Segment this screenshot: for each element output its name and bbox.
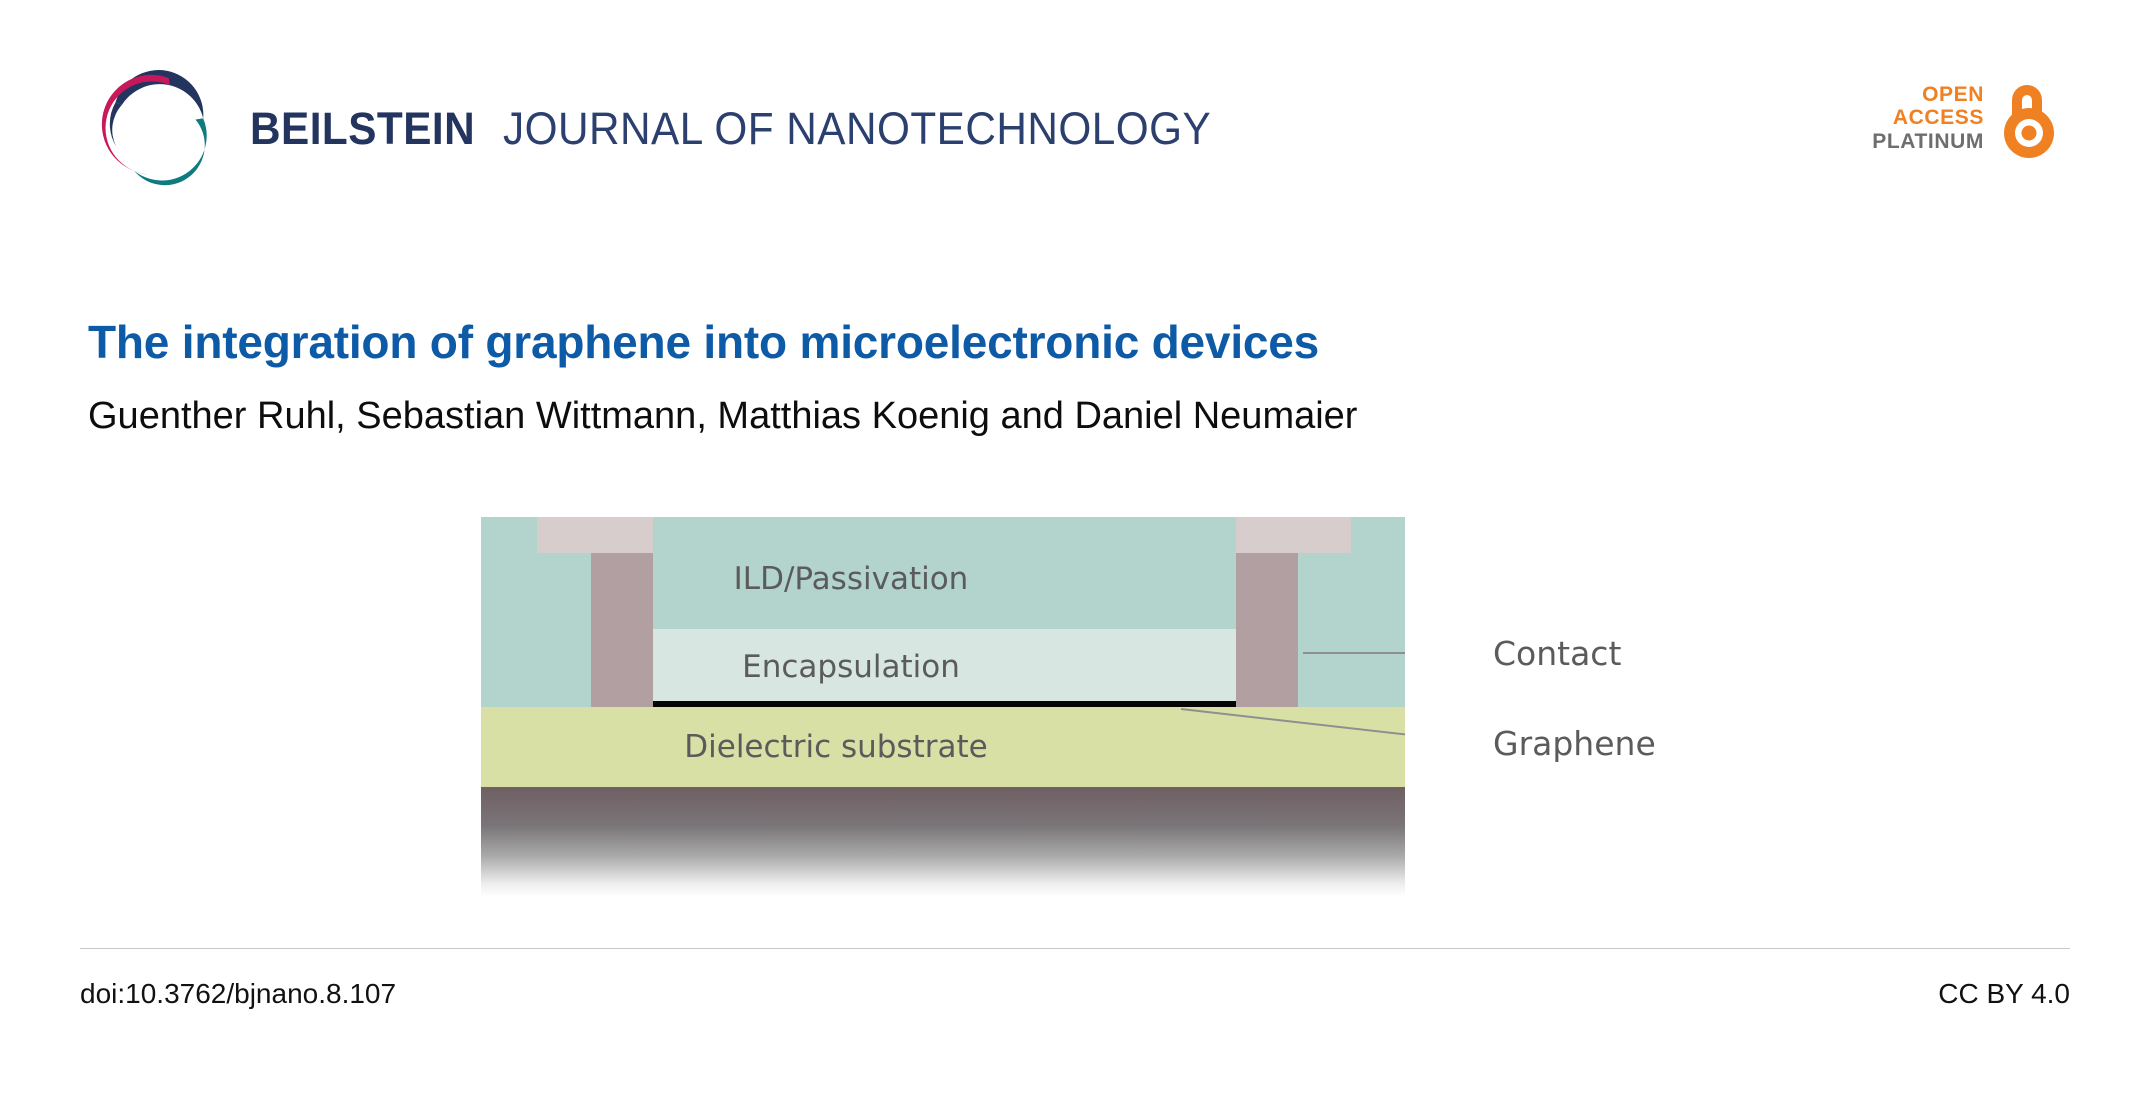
oa-line-open: OPEN [1872,83,1984,107]
footer: doi:10.3762/bjnano.8.107 CC BY 4.0 [80,970,2070,1018]
oa-line-access: ACCESS [1872,106,1984,130]
masthead: BEILSTEIN JOURNAL OF NANOTECHNOLOGY OPEN… [0,0,2150,230]
figure-callouts: Contact Graphene [481,517,1405,897]
wordmark-beilstein: BEILSTEIN [250,106,475,151]
wordmark-journal-of-nanotechnology: JOURNAL OF NANOTECHNOLOGY [503,106,1211,151]
article-authors: Guenther Ruhl, Sebastian Wittmann, Matth… [88,394,2048,440]
article-title: The integration of graphene into microel… [88,316,2008,369]
journal-brand[interactable]: BEILSTEIN JOURNAL OF NANOTECHNOLOGY [88,62,1256,190]
journal-wordmark: BEILSTEIN JOURNAL OF NANOTECHNOLOGY [250,106,1256,151]
open-access-badge[interactable]: OPEN ACCESS PLATINUM [1872,76,2062,160]
callout-contact: Contact [1493,634,1621,673]
open-padlock-icon [1996,76,2062,160]
beilstein-spiral-logo-icon [88,62,216,190]
graphical-abstract-figure: ILD/Passivation Encapsulation Dielectric… [481,517,1405,897]
open-access-text: OPEN ACCESS PLATINUM [1872,83,1984,154]
callout-graphene: Graphene [1493,724,1656,763]
doi-text[interactable]: doi:10.3762/bjnano.8.107 [80,978,396,1010]
oa-line-platinum: PLATINUM [1872,130,1984,154]
footer-divider [80,948,2070,949]
license-text[interactable]: CC BY 4.0 [1938,978,2070,1010]
